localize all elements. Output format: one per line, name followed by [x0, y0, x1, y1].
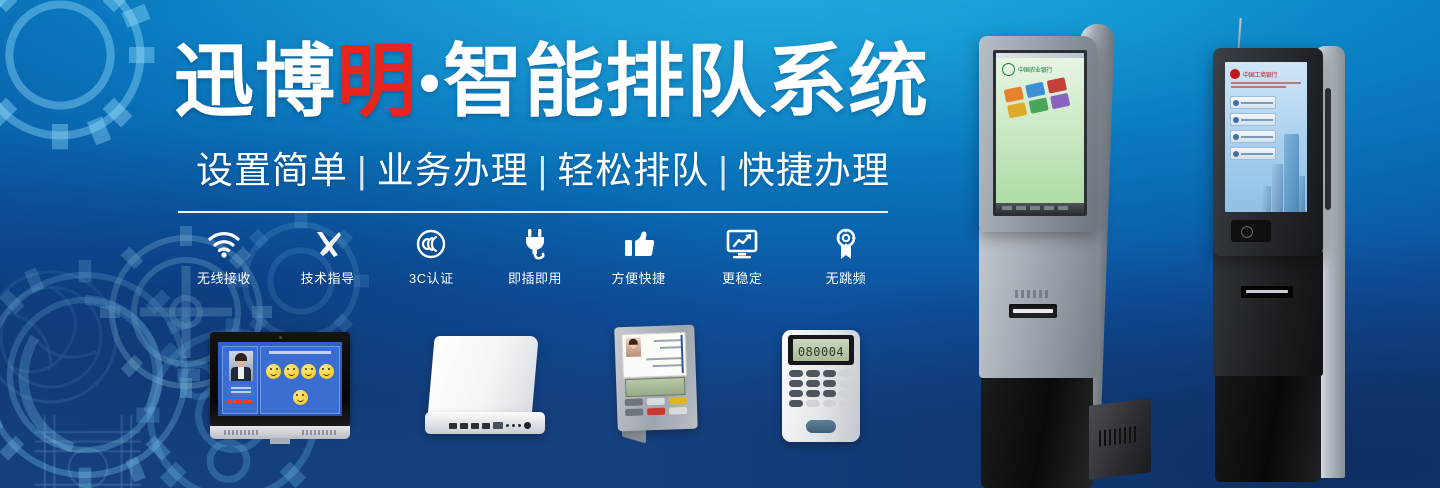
product-ticket-keypad: 080004: [782, 330, 860, 442]
monitor-bezel: [210, 332, 350, 426]
promo-banner: 迅博明•智能排队系统 设置简单|业务办理|轻松排队|快捷办理 无线接收: [0, 0, 1440, 488]
page-title: 迅博明•智能排队系统: [174, 36, 914, 128]
product-desktop-evaluator: [608, 326, 704, 444]
subtitle-item-2: 轻松排队: [557, 150, 709, 191]
keypad-key[interactable]: [806, 370, 820, 377]
webcam-icon: [279, 336, 282, 339]
screen-taskbar: [996, 203, 1084, 213]
feature-label: 技术指导: [301, 268, 355, 287]
service-tile[interactable]: [1007, 102, 1027, 118]
rating-panel: [260, 346, 340, 414]
feature-list: 无线接收 技术指导: [178, 224, 892, 290]
eval-label-left: [625, 408, 643, 416]
speaker-grille: [224, 430, 258, 435]
bank-name: 中国农业银行: [1018, 65, 1078, 74]
subtitle-separator: |: [709, 150, 738, 191]
service-tile[interactable]: [1028, 97, 1048, 113]
product-wireless-controller: [425, 336, 545, 440]
subtitle: 设置简单|业务办理|轻松排队|快捷办理: [196, 148, 896, 194]
controller-ports: [449, 422, 535, 429]
controller-panel: [427, 336, 538, 420]
feature-label: 无跳频: [826, 268, 867, 287]
ccc-certification-icon: [415, 224, 447, 264]
ticket-slot: [1241, 286, 1293, 298]
keypad-keys: [789, 370, 853, 410]
circuit-pattern-icon: [28, 408, 148, 488]
power-plug-icon: [521, 224, 549, 264]
title-part1: 迅博: [174, 37, 336, 126]
feature-item-convenient: 方便快捷: [593, 224, 685, 287]
printed-ticket: [1013, 309, 1053, 313]
teller-photo: [626, 338, 642, 358]
keypad-key[interactable]: [789, 380, 803, 387]
icbc-logo-icon: [1230, 69, 1240, 79]
title-bullet: •: [417, 49, 443, 116]
keypad-display-value: 080004: [793, 345, 849, 359]
face-very-unsatisfied[interactable]: [293, 390, 308, 405]
keypad-display-housing: 080004: [788, 335, 854, 365]
product-evaluation-monitor: [210, 332, 350, 444]
feature-label: 3C认证: [409, 268, 454, 287]
title-part2: 智能排队系统: [443, 37, 929, 126]
monitor-screen: [218, 342, 342, 416]
service-tile[interactable]: [1004, 86, 1024, 102]
spiral-pattern-icon: [0, 262, 126, 412]
ticket-slot: [1009, 304, 1057, 318]
teller-panel: [222, 346, 258, 414]
keypad-key[interactable]: [823, 380, 837, 387]
bank-name: 中国工商银行: [1243, 70, 1302, 79]
kiosk-head: 中国农业银行: [979, 36, 1097, 232]
award-ribbon-icon: [833, 224, 859, 264]
subtitle-item-0: 设置简单: [196, 150, 348, 191]
gear-icon: [0, 0, 190, 170]
kiosk-body: [979, 226, 1097, 378]
product-queue-kiosk-icbc: 中国工商银行: [1205, 18, 1385, 488]
evaluator-body: [614, 325, 698, 432]
card-reader-icon: [1231, 220, 1271, 242]
star-rating: [228, 399, 254, 404]
feature-label: 方便快捷: [612, 268, 666, 287]
city-skyline-graphic: [1261, 126, 1305, 212]
eval-button-unsatisfied[interactable]: [647, 408, 665, 416]
kiosk-vent-box: [1089, 398, 1151, 480]
keypad-key[interactable]: [823, 400, 837, 407]
screen-title-bar: [996, 53, 1084, 58]
rating-faces: [265, 359, 335, 410]
keypad-key[interactable]: [839, 400, 853, 407]
feature-item-support: 技术指导: [282, 224, 374, 287]
feature-label: 即插即用: [508, 268, 562, 287]
subtitle-item-1: 业务办理: [377, 150, 529, 191]
subtitle-separator: |: [529, 150, 558, 191]
keypad-key[interactable]: [806, 390, 820, 397]
bank-logo-icbc: 中国工商银行: [1230, 68, 1302, 80]
feature-label: 更稳定: [722, 268, 763, 287]
eval-button-basic[interactable]: [669, 397, 687, 405]
service-tile[interactable]: [1050, 93, 1070, 109]
service-tile[interactable]: [1025, 82, 1045, 98]
subtitle-separator: |: [348, 150, 377, 191]
kiosk-base: [1215, 370, 1321, 482]
service-tile-grid: [999, 76, 1081, 148]
keypad-key[interactable]: [823, 370, 837, 377]
eval-button-satisfied[interactable]: [647, 398, 665, 406]
bank-logo-abc: 中国农业银行: [1002, 63, 1078, 76]
tools-icon: [313, 224, 343, 264]
keypad-key[interactable]: [789, 370, 803, 377]
monitor-stand: [270, 438, 290, 444]
monitor-chart-icon: [726, 224, 758, 264]
evaluator-keys: [625, 397, 688, 425]
screen-notice: [1231, 82, 1301, 90]
keypad-body: 080004: [782, 330, 860, 442]
kiosk-body: [1213, 250, 1323, 376]
keypad-key[interactable]: [839, 380, 853, 387]
product-queue-kiosk-abc: 中国农业银行: [975, 24, 1160, 488]
feature-item-nohop: 无跳频: [800, 224, 892, 287]
keypad-key[interactable]: [839, 390, 853, 397]
feature-item-stable: 更稳定: [696, 224, 788, 287]
face-unsatisfied[interactable]: [319, 364, 334, 379]
eval-label-right: [669, 407, 687, 415]
keypad-key[interactable]: [789, 390, 803, 397]
abc-logo-icon: [1002, 63, 1015, 76]
menu-button-personal[interactable]: [1230, 96, 1276, 109]
teller-photo: [229, 351, 253, 381]
kiosk-head: 中国工商银行: [1213, 48, 1323, 256]
keypad-key[interactable]: [823, 390, 837, 397]
kiosk-base: [981, 372, 1093, 488]
wifi-icon: [207, 224, 241, 264]
teller-name-plate: [228, 385, 254, 395]
rating-prompt: [269, 351, 331, 354]
keypad-key[interactable]: [806, 380, 820, 387]
feature-label: 无线接收: [197, 268, 251, 287]
face-neutral[interactable]: [301, 364, 316, 379]
printer-label-icon: [1015, 290, 1049, 298]
subtitle-item-3: 快捷办理: [738, 150, 890, 191]
keypad-enter-button[interactable]: [806, 420, 836, 433]
keypad-lcd: 080004: [793, 339, 849, 361]
kiosk-screen-abc[interactable]: 中国农业银行: [993, 50, 1087, 216]
section-divider: [178, 211, 888, 213]
teller-name-card: [621, 332, 686, 378]
face-very-satisfied[interactable]: [266, 364, 281, 379]
eval-button-very-satisfied[interactable]: [625, 398, 643, 406]
kiosk-screen-icbc[interactable]: 中国工商银行: [1225, 62, 1307, 212]
keypad-key[interactable]: [789, 400, 803, 407]
feature-item-wireless: 无线接收: [178, 224, 270, 287]
feature-item-3c: 3C认证: [385, 224, 477, 287]
menu-button-corporate[interactable]: [1230, 113, 1276, 126]
thumbs-up-icon: [623, 224, 655, 264]
keypad-key[interactable]: [839, 370, 853, 377]
side-slot: [1325, 88, 1331, 210]
title-accent-char: 明: [336, 37, 417, 126]
speaker-grille: [302, 430, 336, 435]
face-satisfied[interactable]: [284, 364, 299, 379]
service-tile[interactable]: [1047, 77, 1067, 93]
feature-item-plugplay: 即插即用: [489, 224, 581, 287]
keypad-key[interactable]: [806, 400, 820, 407]
printed-ticket: [1246, 290, 1288, 293]
evaluator-lcd: [625, 377, 686, 397]
